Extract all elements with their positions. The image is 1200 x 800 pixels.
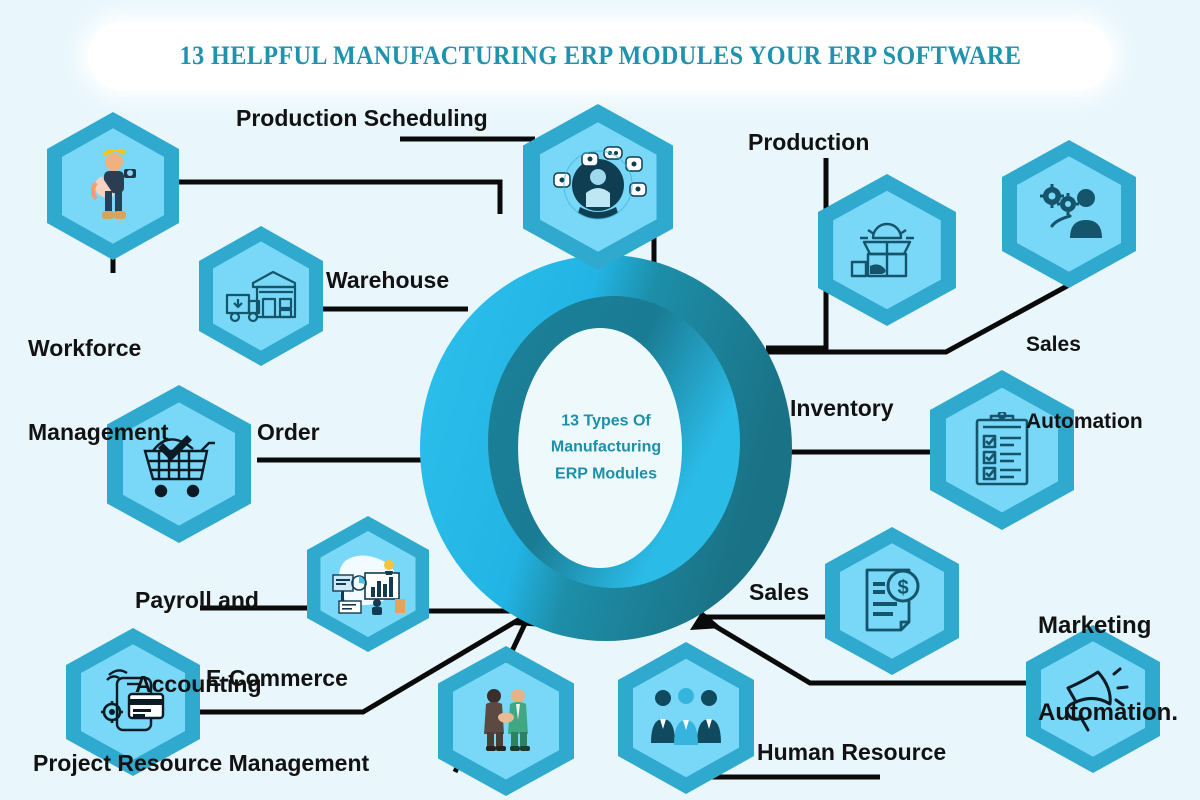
node-production-scheduling[interactable] [523,104,673,270]
gear-box-hand-icon [818,174,956,326]
wire-workforce-to-center [176,182,500,214]
label-sales-automation: Sales Automation [1026,281,1186,486]
label-sales-automation-line1: Sales [1026,332,1186,358]
label-production-scheduling: Production Scheduling [236,104,488,132]
label-workforce-management: Workforce Management [28,278,203,502]
label-marketing-line1: Marketing [1038,611,1198,640]
label-sales-automation-line2: Automation [1026,409,1186,435]
label-human-resource: Human Resource [757,738,946,766]
person-gears-icon [1002,140,1136,288]
label-order: Order [257,418,320,446]
label-warehouse: Warehouse [326,266,449,294]
label-production: Production [748,128,869,156]
label-project-resource-management: Project Resource Management [33,749,369,777]
label-workforce-management-line2: Management [28,418,203,446]
analytics-charts-icon [307,516,429,652]
label-sales: Sales [749,578,809,606]
label-e-commerce: E-Commerce [206,664,348,692]
label-inventory: Inventory [790,394,894,422]
central-torus: 13 Types Of Manufacturing ERP Modules [418,252,794,644]
three-people-icon [618,642,754,794]
node-human-resource[interactable] [618,642,754,794]
person-laptop-apps-icon [523,104,673,270]
infographic-canvas: 13 HELPFUL MANUFACTURING ERP MODULES YOU… [0,0,1200,800]
label-workforce-management-line1: Workforce [28,334,203,362]
node-workforce-management[interactable] [47,112,179,260]
label-marketing-automation: Marketing Automation. [1038,552,1198,786]
node-project-resource-management[interactable] [438,646,574,796]
invoice-dollar-icon: $ [825,527,959,675]
node-warehouse[interactable] [199,226,323,366]
worker-person-icon [47,112,179,260]
node-sales[interactable]: $ [825,527,959,675]
label-payroll-and-accounting: Payroll and Accounting [135,530,295,754]
node-payroll-and-accounting[interactable] [307,516,429,652]
node-sales-automation[interactable] [1002,140,1136,288]
warehouse-truck-icon [199,226,323,366]
label-marketing-line2: Automation. [1038,698,1198,727]
torus-hole [518,328,682,568]
handshake-icon [438,646,574,796]
node-production[interactable] [818,174,956,326]
svg-text:$: $ [897,577,908,599]
label-payroll-line1: Payroll and [135,586,295,614]
